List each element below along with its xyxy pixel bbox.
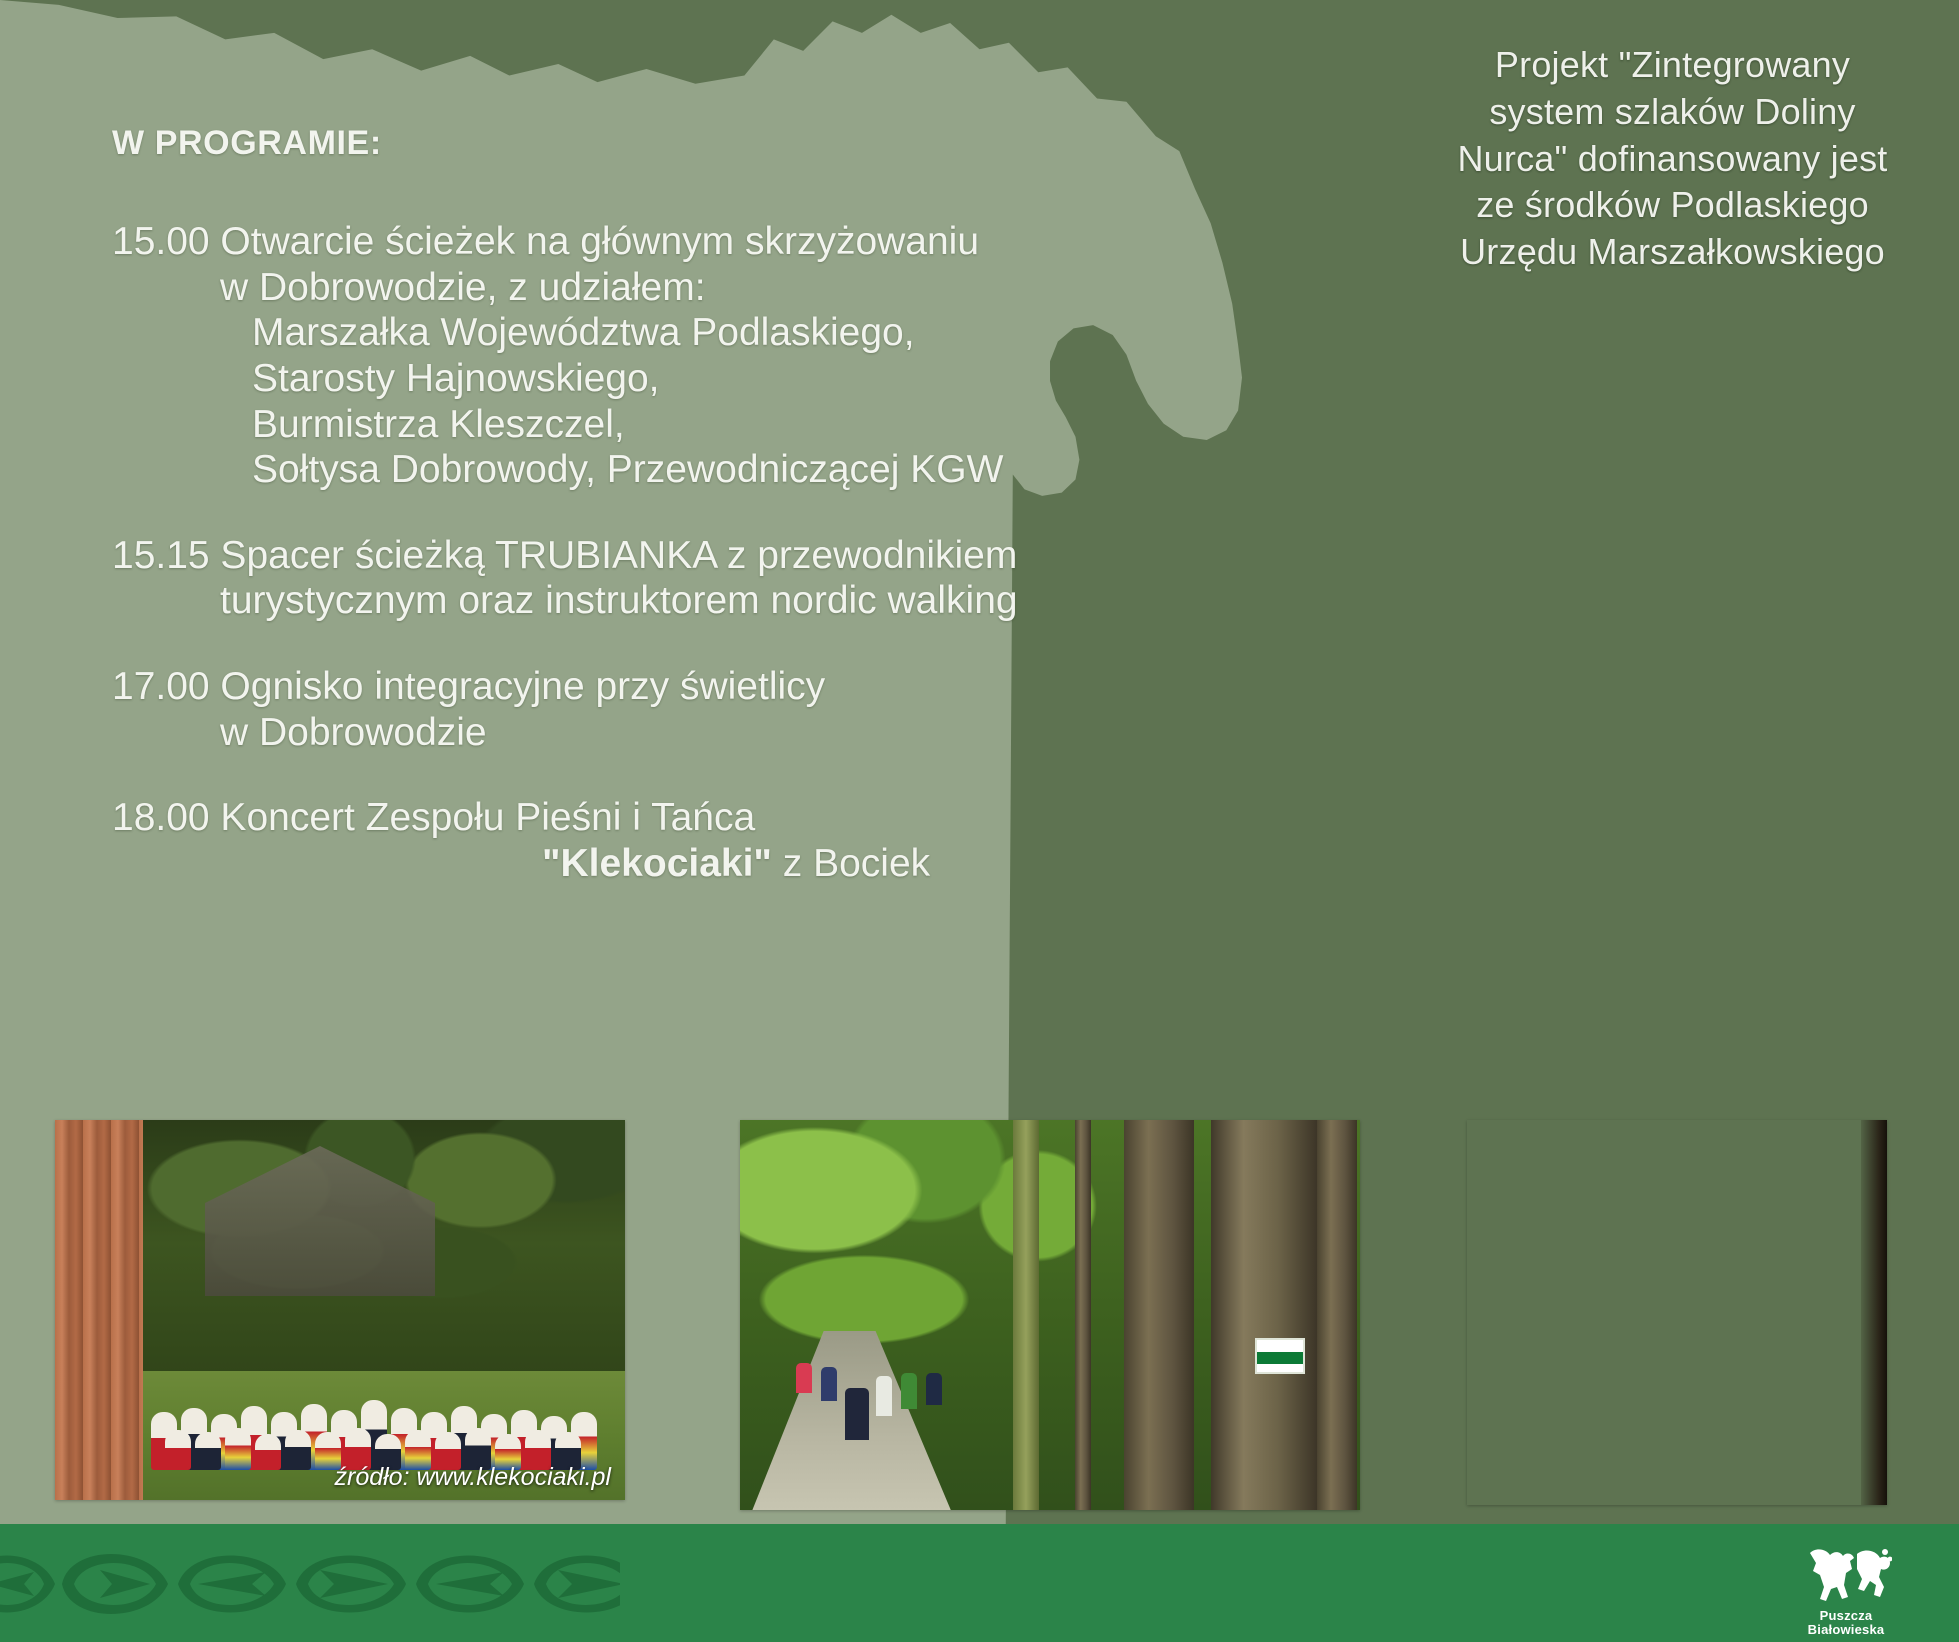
- ensemble-origin: z Bociek: [772, 842, 930, 885]
- programme-line: 15.00 Otwarcie ścieżek na głównym skrzyż…: [112, 219, 1292, 265]
- programme-heading: W PROGRAMIE:: [112, 124, 1292, 163]
- folk-ornament-band: [0, 1538, 620, 1630]
- programme-item-1800: 18.00 Koncert Zespołu Pieśni i Tańca "Kl…: [112, 795, 1292, 886]
- photo-row: źródło: www.klekociaki.pl: [0, 1120, 1959, 1500]
- photo2-trunk: [1317, 1120, 1357, 1510]
- programme-line: Burmistrza Kleszczel,: [112, 402, 1292, 448]
- funding-note-line-3: Nurca" dofinansowany jest: [1400, 136, 1945, 183]
- programme-line: Starosty Hajnowskiego,: [112, 356, 1292, 402]
- funding-note-line-1: Projekt "Zintegrowany: [1400, 42, 1945, 89]
- funding-note-line-5: Urzędu Marszałkowskiego: [1400, 229, 1945, 276]
- trail-marker-icon: [1255, 1338, 1305, 1374]
- photo1-ensemble-members: [147, 1310, 617, 1470]
- poster-root: Projekt "Zintegrowany system szlaków Dol…: [0, 0, 1959, 1642]
- photo2-walker: [796, 1363, 812, 1393]
- photo3-buns: [1467, 1120, 1887, 1505]
- programme-item-1700: 17.00 Ognisko integracyjne przy świetlic…: [112, 664, 1292, 755]
- photo2-trunk: [1013, 1120, 1039, 1510]
- puszcza-bialowieska-logo: Puszcza Białowieska: [1771, 1547, 1921, 1638]
- programme-item-1500: 15.00 Otwarcie ścieżek na głównym skrzyż…: [112, 219, 1292, 493]
- logo-line-2: Białowieska: [1771, 1623, 1921, 1638]
- programme-line: 18.00 Koncert Zespołu Pieśni i Tańca: [112, 795, 1292, 841]
- ensemble-name: "Klekociaki": [542, 842, 772, 885]
- programme-line-ensemble: "Klekociaki" z Bociek: [112, 841, 1292, 887]
- programme-line: Marszałka Województwa Podlaskiego,: [112, 310, 1292, 356]
- photo2-walker: [845, 1388, 869, 1440]
- funding-note-line-2: system szlaków Doliny: [1400, 89, 1945, 136]
- photo2-trunk: [1075, 1120, 1091, 1510]
- programme-line: w Dobrowodzie: [112, 710, 1292, 756]
- funding-note-line-4: ze środków Podlaskiego: [1400, 182, 1945, 229]
- photo2-trunk: [1211, 1120, 1319, 1510]
- programme-item-1515: 15.15 Spacer ścieżką TRUBIANKA z przewod…: [112, 533, 1292, 624]
- forest-trail-photo: [740, 1120, 1360, 1510]
- photo2-trunk: [1124, 1120, 1194, 1510]
- photo1-wooden-wall: [55, 1120, 143, 1500]
- programme-line: 17.00 Ognisko integracyjne przy świetlic…: [112, 664, 1292, 710]
- photo2-walker: [901, 1373, 917, 1409]
- bottom-green-bar: Puszcza Białowieska: [0, 1524, 1959, 1642]
- photo3-tray-edge: [1861, 1120, 1887, 1505]
- folk-ensemble-photo: źródło: www.klekociaki.pl: [55, 1120, 625, 1500]
- baked-buns-photo: [1467, 1120, 1887, 1505]
- programme-line: turystycznym oraz instruktorem nordic wa…: [112, 578, 1292, 624]
- photo-source-caption: źródło: www.klekociaki.pl: [335, 1463, 612, 1492]
- photo2-walker: [926, 1373, 942, 1405]
- logo-line-1: Puszcza: [1771, 1609, 1921, 1624]
- funding-note: Projekt "Zintegrowany system szlaków Dol…: [1400, 42, 1945, 276]
- bison-silhouette-icon: [1800, 1547, 1892, 1609]
- programme-block: W PROGRAMIE: 15.00 Otwarcie ścieżek na g…: [112, 124, 1292, 887]
- programme-line: Sołtysa Dobrowody, Przewodniczącej KGW: [112, 447, 1292, 493]
- photo2-walker: [876, 1376, 892, 1416]
- programme-line: 15.15 Spacer ścieżką TRUBIANKA z przewod…: [112, 533, 1292, 579]
- programme-line: w Dobrowodzie, z udziałem:: [112, 265, 1292, 311]
- photo2-walker: [821, 1367, 837, 1401]
